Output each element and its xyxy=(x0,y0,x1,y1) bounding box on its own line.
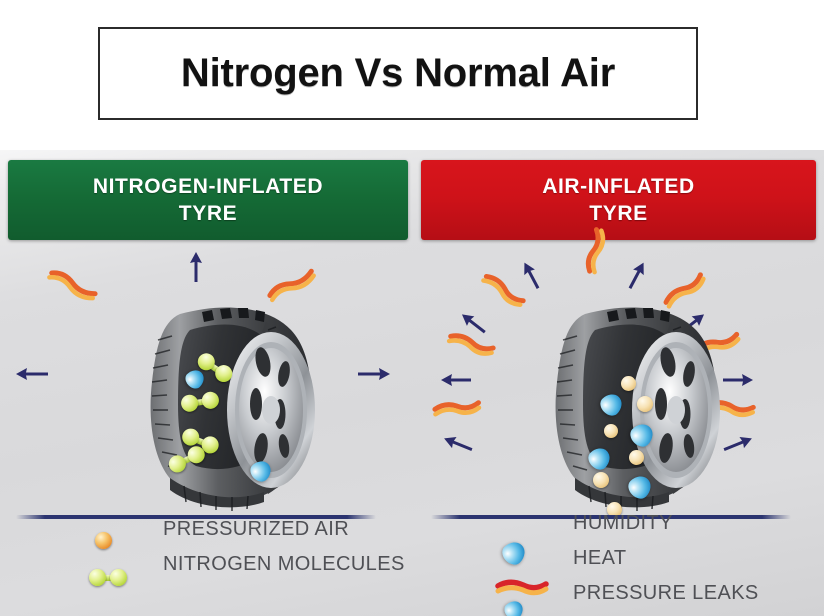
banner-air-line1: AIR-INFLATED xyxy=(542,173,695,200)
legend-item-humidity: HUMIDITY xyxy=(495,506,820,541)
water-droplet-icon-partial xyxy=(495,601,555,616)
banner-nitrogen-line1: NITROGEN-INFLATED xyxy=(93,173,323,200)
arrow-icon-right xyxy=(356,364,392,384)
banner-air-line2: TYRE xyxy=(589,200,647,227)
legend-label-heat: HEAT xyxy=(573,547,626,570)
pressure-leak-icon xyxy=(432,398,482,421)
arrow-icon-up xyxy=(186,248,206,284)
nitrogen-tyre-scene xyxy=(8,248,408,516)
banner-nitrogen-line2: TYRE xyxy=(179,200,237,227)
banner-air-inflated: AIR-INFLATED TYRE xyxy=(421,160,816,240)
pressurized-air-dot-icon xyxy=(593,472,609,488)
legend-item-heat: HEAT xyxy=(495,541,820,576)
pressure-leak-icon xyxy=(44,265,99,307)
legend-label-humidity: HUMIDITY xyxy=(573,512,673,535)
title-box: Nitrogen Vs Normal Air xyxy=(98,27,698,120)
legend-label-nitrogen-molecules: NITROGEN MOLECULES xyxy=(163,553,405,576)
arrow-icon-up-left xyxy=(514,255,548,294)
page-title: Nitrogen Vs Normal Air xyxy=(181,51,615,96)
arrow-icon-lower-left xyxy=(438,428,477,459)
water-droplet-icon xyxy=(495,541,555,576)
nitrogen-molecule-icon xyxy=(85,547,145,582)
pressurized-air-dot-icon xyxy=(629,450,644,465)
legend-label-pressure-leaks: PRESSURE LEAKS xyxy=(573,582,759,605)
banner-nitrogen-inflated: NITROGEN-INFLATED TYRE xyxy=(8,160,408,240)
arrow-icon-left xyxy=(439,370,473,390)
legend-item-nitrogen-molecules: NITROGEN MOLECULES xyxy=(85,547,415,582)
pressurized-air-dot-icon xyxy=(621,376,636,391)
legend-label-pressurized-air: PRESSURIZED AIR xyxy=(163,518,349,541)
nitrogen-inflated-tyre-illustration xyxy=(128,296,328,512)
air-tyre-scene xyxy=(421,248,816,516)
legend-nitrogen: PRESSURIZED AIR NITROGEN MOLECULES xyxy=(85,512,415,582)
legend-item-pressurized-air: PRESSURIZED AIR xyxy=(85,512,415,547)
pressurized-air-dot-icon xyxy=(637,396,653,412)
pressurized-air-dot-icon xyxy=(604,424,618,438)
legend-air: HUMIDITY HEAT PRESSURE LEAKS xyxy=(495,506,820,616)
infographic-canvas: Nitrogen Vs Normal Air NITROGEN-INFLATED… xyxy=(0,0,824,616)
arrow-icon-left xyxy=(14,364,50,384)
legend-item-partial-below-fold xyxy=(495,611,820,616)
arrow-icon-up-right xyxy=(620,255,654,294)
orange-dot-icon xyxy=(85,512,145,547)
